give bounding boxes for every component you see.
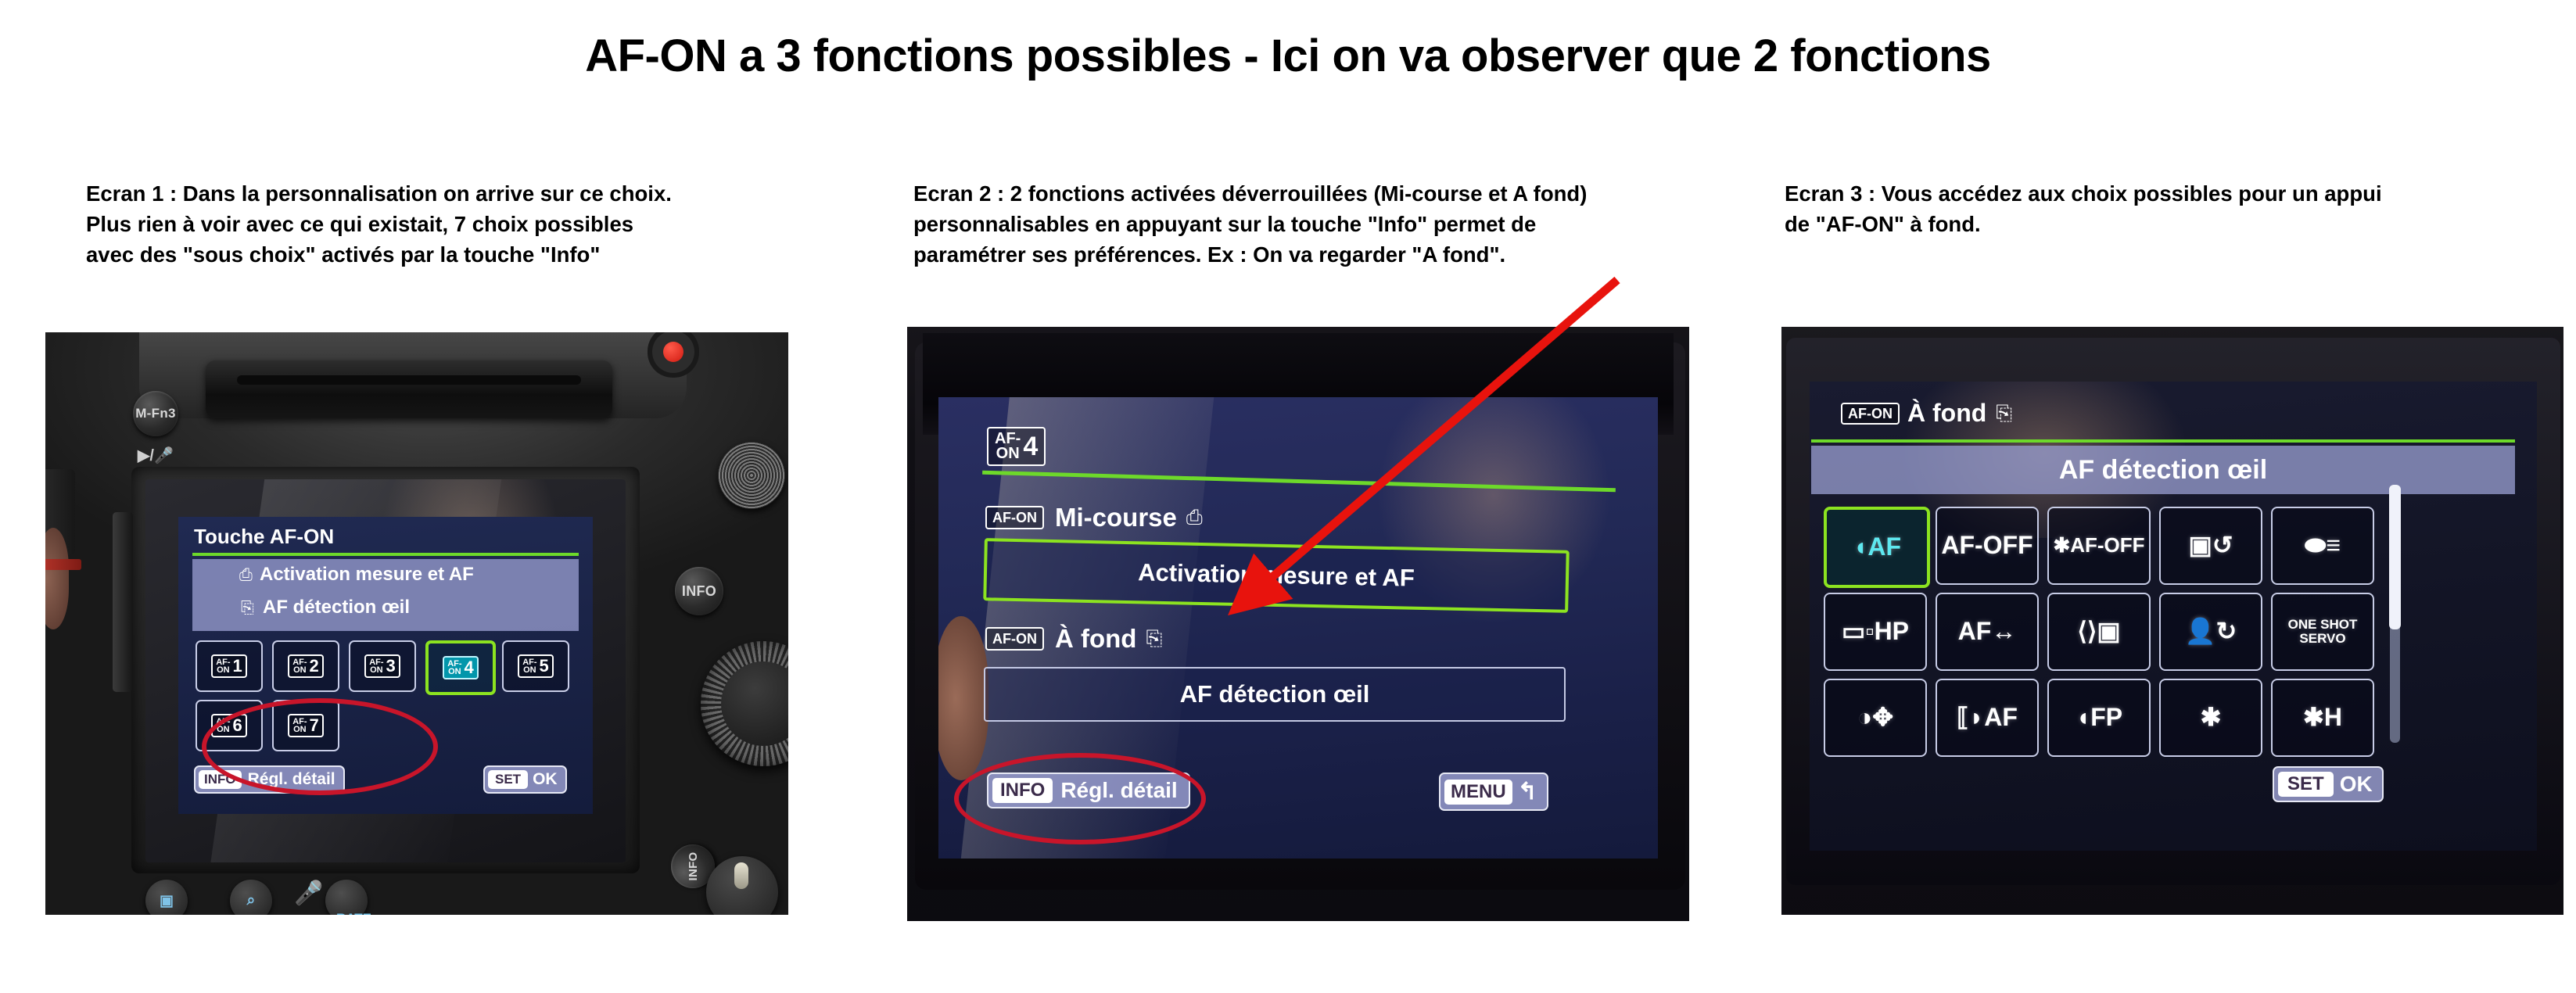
af-on-preset-tile-7[interactable]: AF-ON7: [272, 700, 339, 751]
depth-preview-icon[interactable]: ◑✥: [1824, 679, 1927, 757]
chip-number: 4: [1023, 433, 1038, 460]
page-title: AF-ON a 3 fonctions possibles - Ici on v…: [0, 30, 2576, 82]
camera-menu-screen-2: AF- ON 4 AF-ON Mi-course ⎙ Activation me…: [938, 397, 1658, 859]
green-divider-2: [982, 471, 1616, 493]
photo-screen-3: AF-ON À fond ⎘ AF détection œil ◖AFAF-OF…: [1781, 327, 2563, 915]
af-on-chip-2: AF-ON: [985, 627, 1044, 651]
af-switch-icon[interactable]: AF↔: [1936, 593, 2039, 671]
lcd-bezel: Touche AF-ON Activation mesure et AF ⎙ A…: [131, 467, 640, 873]
metering-start-icon-label: ⬬≡: [2302, 532, 2344, 559]
menu-title: Touche AF-ON: [194, 525, 334, 549]
chip-number: 2: [310, 658, 319, 675]
half-press-lock-icon: ⎙: [239, 566, 253, 585]
screen3-header: AF-ON À fond ⎘: [1841, 399, 2012, 428]
movie-record-button[interactable]: [663, 342, 683, 362]
caption-screen-1: Ecran 1 : Dans la personnalisation on ar…: [86, 178, 829, 270]
info-key-badge-2: INFO: [992, 778, 1053, 803]
eye-detect-af-icon-label: ⟦◗AF: [1954, 704, 2021, 731]
info-detail-hint[interactable]: INFO Régl. détail: [194, 765, 345, 794]
af-on-chip: AF-ON1: [211, 654, 247, 678]
info-button[interactable]: INFO: [675, 567, 723, 615]
playback-button[interactable]: ▣: [145, 880, 188, 915]
chip-bottom: ON: [370, 666, 383, 674]
subject-switch-icon[interactable]: 👤↻: [2159, 593, 2262, 671]
banner-line-1: Activation mesure et AF: [260, 564, 474, 586]
green-divider-3: [1811, 439, 2515, 443]
play-mic-icon: ▶/🎤: [138, 446, 174, 465]
row-a-fond[interactable]: AF-ON À fond ⎘: [985, 624, 1162, 654]
rate-button[interactable]: [325, 880, 368, 915]
magnify-button[interactable]: ⌕: [230, 880, 272, 915]
chip-number: 4: [465, 659, 474, 676]
row-label-mi-course: Mi-course: [1055, 503, 1177, 532]
screen3-banner: AF détection œil: [1811, 446, 2515, 494]
full-press-icon-3: ⎘: [1996, 401, 2012, 426]
eye-af-icon-label: ◖AF: [1849, 534, 1904, 561]
lcd-glass: Touche AF-ON Activation mesure et AF ⎙ A…: [145, 479, 626, 862]
set-key-badge: SET: [488, 770, 528, 789]
flash-fp-icon[interactable]: ◖FP: [2047, 679, 2151, 757]
chip-number: 3: [386, 658, 396, 675]
menu-key-badge: MENU: [1444, 780, 1512, 805]
caption-screen-3: Ecran 3 : Vous accédez aux choix possibl…: [1785, 178, 2574, 239]
af-on-chip: AF-ON7: [288, 714, 324, 737]
value-af-detection-oeil[interactable]: AF détection œil: [984, 667, 1566, 722]
camera-menu-screen-3: AF-ON À fond ⎘ AF détection œil ◖AFAF-OF…: [1810, 382, 2537, 851]
ae-lock-af-off-icon[interactable]: ✱AF-OFF: [2047, 507, 2151, 585]
rate-label: RATE: [336, 911, 371, 915]
chip-number: 7: [310, 717, 319, 734]
af-on-4-chip: AF- ON 4: [987, 427, 1046, 466]
oneshot-servo-icon-label: ONE SHOT SERVO: [2273, 618, 2373, 646]
info-hint-label-2: Régl. détail: [1060, 778, 1177, 803]
set-hint-label: OK: [533, 770, 558, 789]
row-label-a-fond: À fond: [1055, 624, 1136, 654]
af-on-preset-tile-5[interactable]: AF-ON5: [502, 640, 569, 692]
info-detail-hint-2[interactable]: INFO Régl. détail: [987, 773, 1190, 808]
set-ok-hint[interactable]: SET OK: [483, 765, 567, 794]
current-selection-banner: Activation mesure et AF ⎙ AF détection œ…: [192, 559, 579, 631]
chip-bottom: ON: [293, 666, 307, 674]
af-on-preset-tile-1[interactable]: AF-ON1: [196, 640, 263, 692]
af-switch-icon-label: AF↔: [1955, 618, 2020, 645]
full-press-icon-2: ⎘: [1146, 626, 1162, 651]
af-area-switch-icon[interactable]: ⟨⟩▣: [2047, 593, 2151, 671]
af-area-switch-icon-label: ⟨⟩▣: [2074, 618, 2123, 645]
chip-number: 1: [233, 658, 242, 675]
banner-title-3: AF détection œil: [2059, 455, 2267, 486]
af-on-preset-tile-4[interactable]: AF-ON4: [425, 640, 496, 695]
green-divider: [192, 553, 579, 556]
hand-reflection: [45, 528, 69, 629]
chip-number: 6: [233, 717, 242, 734]
af-on-chip: AF-ON2: [288, 654, 324, 678]
photo-screen-1: M-Fn3 ▶/🎤 INFO INFO OFF LO ▣ ⌕ 🎤 RATE To…: [45, 332, 788, 915]
half-press-icon-2: ⎙: [1186, 505, 1203, 530]
af-on-preset-tile-2[interactable]: AF-ON2: [272, 640, 339, 692]
value-label-2: AF détection œil: [1180, 680, 1370, 708]
af-on-chip-1: AF-ON: [985, 506, 1044, 529]
eyecup: [206, 360, 612, 418]
ae-lock-hold-icon-label: ✱H: [2300, 704, 2345, 731]
flash-fp-icon-label: ◖FP: [2072, 704, 2126, 731]
set-hint-label-3: OK: [2340, 772, 2373, 797]
value-activation-mesure-et-af[interactable]: Activation mesure et AF: [983, 538, 1570, 613]
value-label-1: Activation mesure et AF: [1138, 558, 1415, 592]
depth-preview-icon-label: ◑✥: [1854, 704, 1896, 731]
ae-lock-icon[interactable]: ✱: [2159, 679, 2262, 757]
strap-accent: [45, 559, 81, 570]
scrollbar-thumb[interactable]: [2389, 485, 2401, 629]
info-hint-label: Régl. détail: [248, 770, 335, 789]
info-key-badge: INFO: [199, 770, 242, 789]
caption-screen-2: Ecran 2 : 2 fonctions activées déverroui…: [913, 178, 1719, 270]
header-label-a-fond: À fond: [1907, 399, 1986, 428]
chip-bottom: ON: [293, 726, 307, 733]
ae-lock-af-off-icon-label: ✱AF-OFF: [2050, 535, 2147, 556]
af-on-chip: AF-ON5: [518, 654, 554, 678]
ae-lock-icon-label: ✱: [2197, 704, 2225, 731]
back-arrow-icon: ↰: [1518, 778, 1537, 805]
ae-lock-hold-icon[interactable]: ✱H: [2271, 679, 2374, 757]
row-mi-course[interactable]: AF-ON Mi-course ⎙: [985, 503, 1203, 532]
af-on-chip: AF-ON3: [364, 654, 400, 678]
set-key-badge-3: SET: [2278, 772, 2334, 797]
chip-bottom: ON: [217, 726, 230, 733]
chip-bottom-label: ON: [996, 446, 1020, 461]
multi-controller-joystick[interactable]: [718, 442, 785, 509]
chip-bottom: ON: [448, 668, 461, 676]
af-on-chip: AF-ON6: [211, 714, 247, 737]
subject-switch-icon-label: 👤↻: [2182, 618, 2241, 645]
lcd-hinge: [113, 512, 133, 692]
banner-line-2: AF détection œil: [263, 597, 410, 618]
m-fn3-button[interactable]: M-Fn3: [133, 391, 178, 436]
chip-bottom: ON: [217, 666, 230, 674]
af-on-preset-tile-6[interactable]: AF-ON6: [196, 700, 263, 751]
full-press-icon: ⎘: [241, 599, 254, 618]
menu-back-hint[interactable]: MENU ↰: [1439, 773, 1548, 811]
chip-number: 5: [540, 658, 549, 675]
image-playback-icon[interactable]: ▣↺: [2159, 507, 2262, 585]
af-on-chip: AF-ON4: [443, 656, 479, 679]
viewfinder-eyepiece: [237, 375, 581, 385]
oneshot-servo-icon[interactable]: ONE SHOT SERVO: [2271, 593, 2374, 671]
af-home-point-icon-label: ▭▫HP: [1839, 618, 1912, 645]
chip-bottom: ON: [523, 666, 536, 674]
eye-detect-af-icon[interactable]: ⟦◗AF: [1936, 679, 2039, 757]
finger-reflection: [938, 616, 988, 780]
af-off-icon-label: AF-OFF: [1938, 532, 2036, 559]
photo-screen-2: AF- ON 4 AF-ON Mi-course ⎙ Activation me…: [907, 327, 1689, 921]
af-off-icon[interactable]: AF-OFF: [1936, 507, 2039, 585]
af-home-point-icon[interactable]: ▭▫HP: [1824, 593, 1927, 671]
eye-af-icon[interactable]: ◖AF: [1824, 507, 1930, 588]
af-on-preset-tile-3[interactable]: AF-ON3: [349, 640, 416, 692]
metering-start-icon[interactable]: ⬬≡: [2271, 507, 2374, 585]
af-on-chip-3: AF-ON: [1841, 403, 1900, 425]
microphone-icon: 🎤: [294, 880, 323, 907]
set-ok-hint-3[interactable]: SET OK: [2273, 766, 2384, 802]
camera-menu-screen-1: Touche AF-ON Activation mesure et AF ⎙ A…: [178, 517, 593, 814]
image-playback-icon-label: ▣↺: [2185, 532, 2236, 559]
